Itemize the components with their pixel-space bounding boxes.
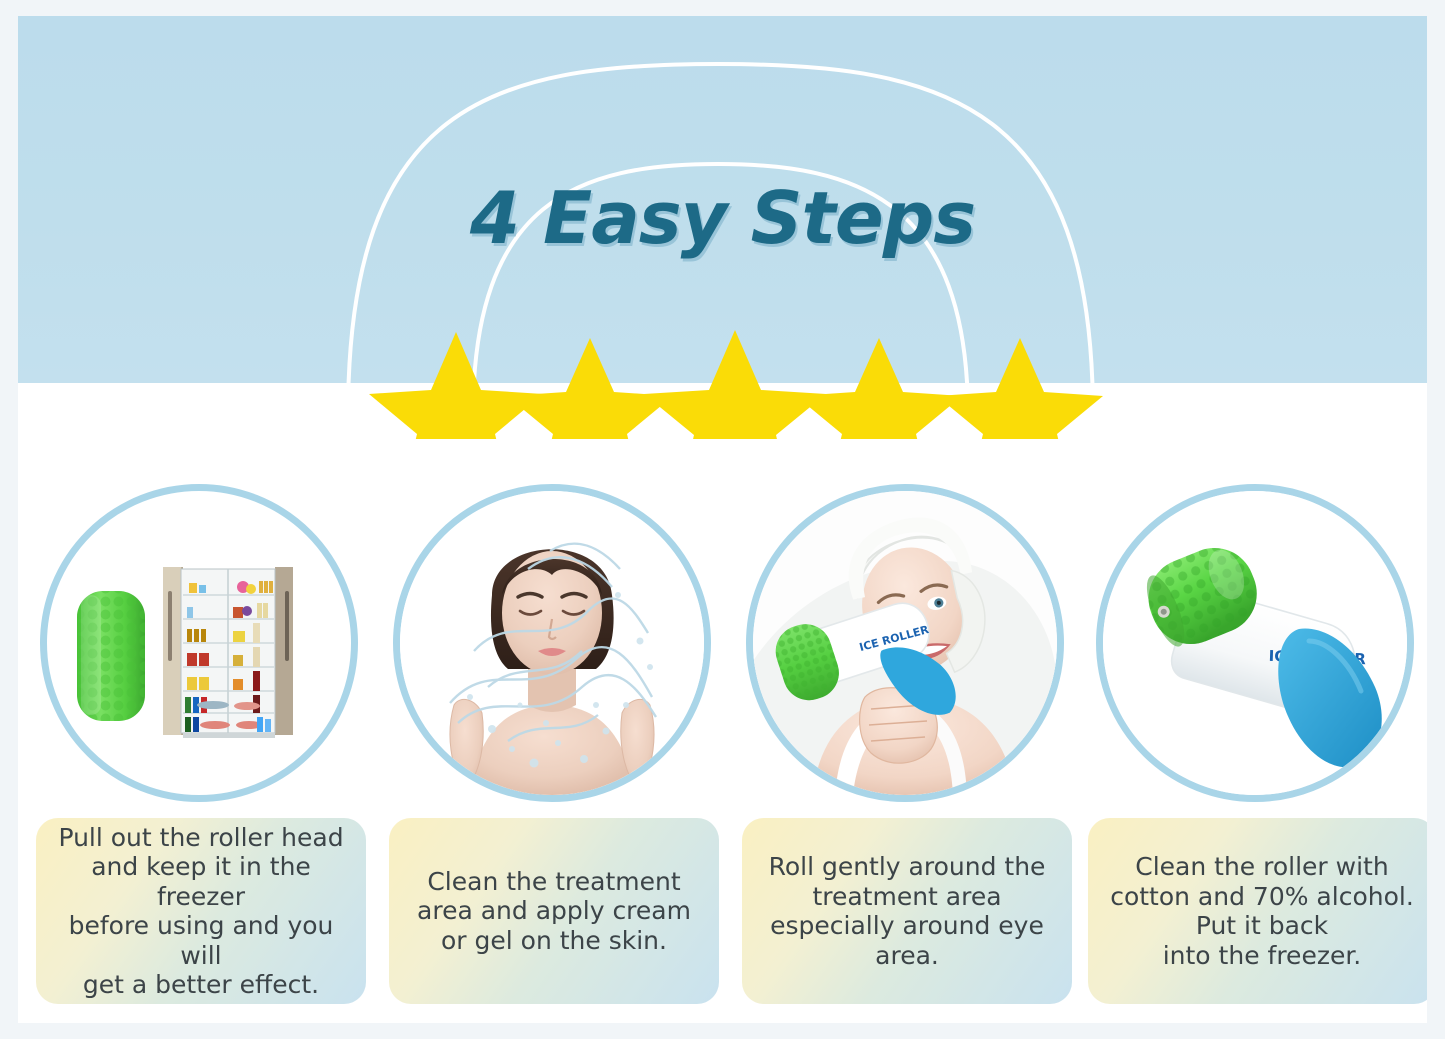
step-caption-text: Clean the roller with cotton and 70% alc… <box>1110 852 1414 970</box>
step-caption-text: Clean the treatment area and apply cream… <box>417 867 691 956</box>
page-title: 4 Easy Steps <box>18 176 1427 260</box>
roller-and-refrigerator-icon <box>47 491 351 795</box>
content-card: 4 Easy Steps <box>18 16 1427 1023</box>
woman-with-roller-icon: ICE ROLLER <box>753 491 1057 795</box>
steps-caption-row: Pull out the roller head and keep it in … <box>18 818 1427 1013</box>
step-image-2 <box>393 484 711 802</box>
step-caption-4: Clean the roller with cotton and 70% alc… <box>1088 818 1427 1004</box>
step-caption-3: Roll gently around the treatment area es… <box>742 818 1072 1004</box>
refrigerator-icon <box>163 567 293 738</box>
step-image-4: ICE ROLLER <box>1096 484 1414 802</box>
step-caption-2: Clean the treatment area and apply cream… <box>389 818 719 1004</box>
face-wash-icon <box>400 491 704 795</box>
steps-image-row: ICE ROLLER <box>18 478 1427 808</box>
step-caption-text: Pull out the roller head and keep it in … <box>46 823 356 1000</box>
ice-roller-device-icon: ICE ROLLER <box>1103 491 1407 795</box>
roller-head-icon <box>77 591 145 721</box>
step-image-1 <box>40 484 358 802</box>
step-caption-text: Roll gently around the treatment area es… <box>769 852 1046 970</box>
infographic-page: 4 Easy Steps <box>0 0 1445 1039</box>
step-image-3: ICE ROLLER <box>746 484 1064 802</box>
step-caption-1: Pull out the roller head and keep it in … <box>36 818 366 1004</box>
